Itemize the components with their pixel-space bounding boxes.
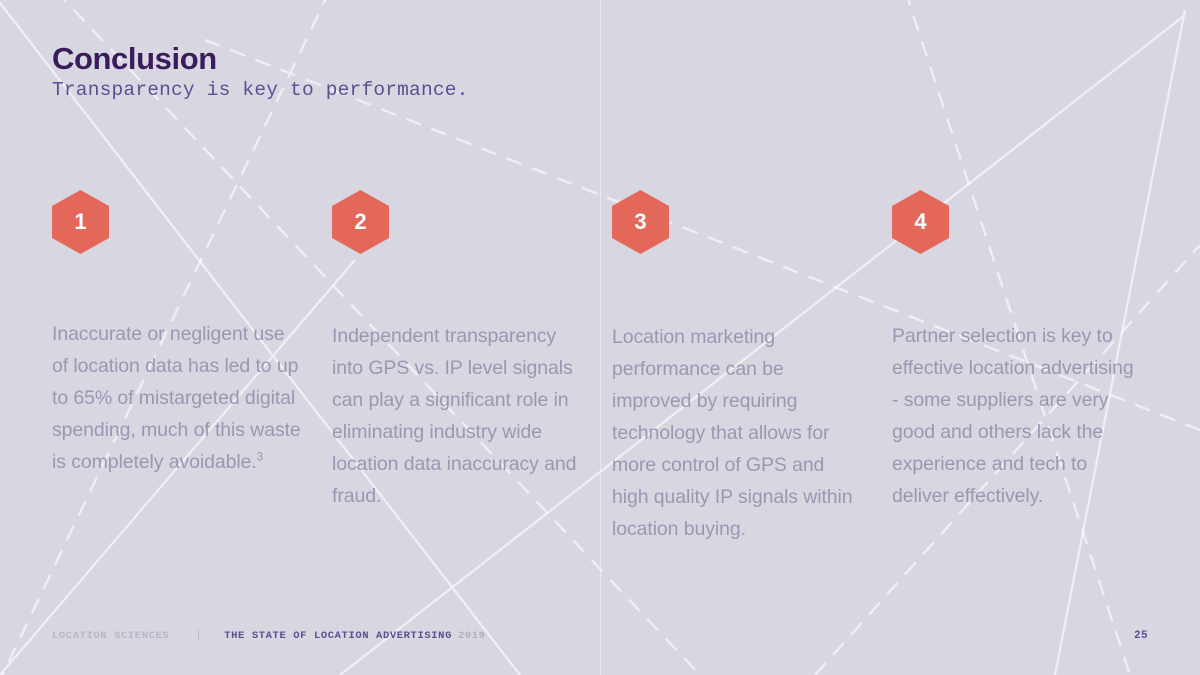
hexagon-badge-3: 3 [612, 190, 669, 254]
page-number: 25 [1134, 630, 1148, 642]
column-body-copy: Inaccurate or negligent use of location … [52, 323, 301, 473]
hexagon-badge-2: 2 [332, 190, 389, 254]
content-column-2: 2 Independent transparency into GPS vs. … [332, 190, 580, 532]
column-body-text-1: Inaccurate or negligent use of location … [52, 318, 304, 478]
content-column-4: 4 Partner selection is key to effective … [892, 190, 1144, 532]
footnote-marker: 3 [257, 452, 263, 464]
hexagon-badge-1: 1 [52, 190, 109, 254]
hexagon-badge-number: 2 [354, 211, 366, 233]
column-body-text-2: Independent transparency into GPS vs. IP… [332, 320, 580, 512]
hexagon-badge-number: 3 [634, 211, 646, 233]
hexagon-badge-4: 4 [892, 190, 949, 254]
footer-document-title: THE STATE OF LOCATION ADVERTISING [224, 630, 452, 642]
footer-brand: LOCATION SCIENCES [52, 630, 169, 642]
slide-footer: LOCATION SCIENCES | THE STATE OF LOCATIO… [52, 630, 1148, 642]
hexagon-badge-number: 4 [914, 211, 926, 233]
content-column-3: 3 Location marketing performance can be … [612, 190, 860, 565]
column-body-text-4: Partner selection is key to effective lo… [892, 320, 1144, 512]
content-column-1: 1 Inaccurate or negligent use of locatio… [52, 190, 304, 498]
column-body-copy: Partner selection is key to effective lo… [892, 325, 1134, 507]
presentation-slide: Conclusion Transparency is key to perfor… [0, 0, 1200, 675]
content-columns: 1 Inaccurate or negligent use of locatio… [0, 0, 1200, 675]
footer-separator: | [195, 630, 202, 642]
footer-year: 2019 [458, 630, 486, 642]
hexagon-badge-number: 1 [74, 211, 86, 233]
column-body-text-3: Location marketing performance can be im… [612, 321, 860, 545]
column-body-copy: Independent transparency into GPS vs. IP… [332, 325, 576, 507]
column-body-copy: Location marketing performance can be im… [612, 326, 853, 540]
